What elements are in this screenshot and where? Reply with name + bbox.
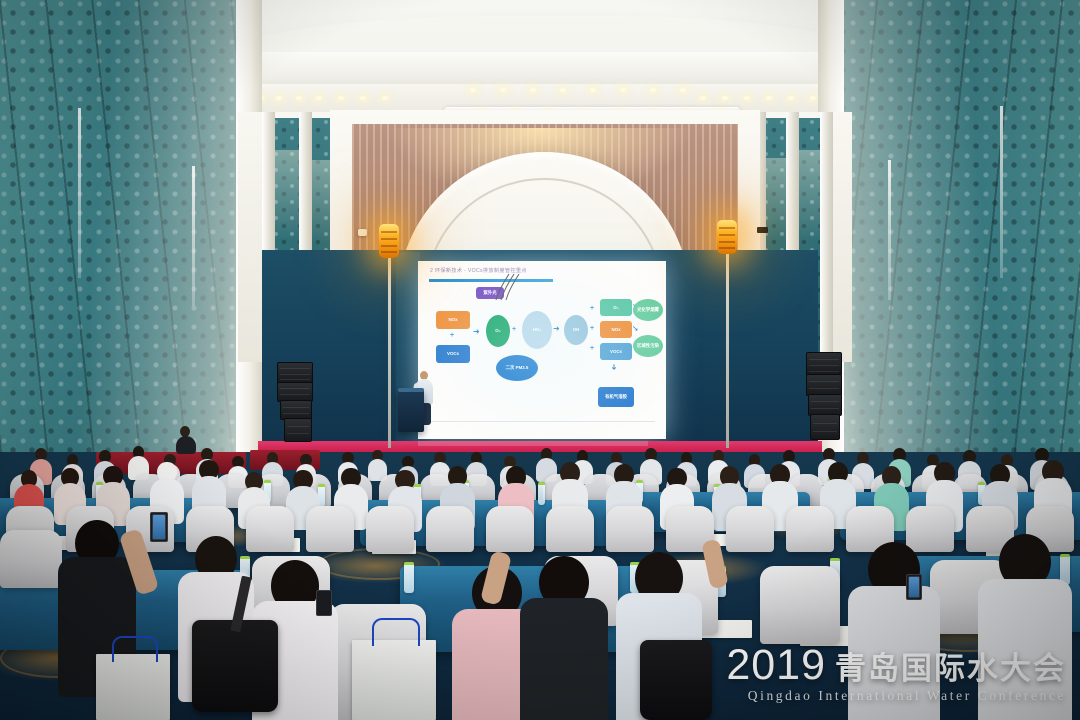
banquet-chair <box>246 506 294 552</box>
downlight <box>620 88 626 92</box>
downlight <box>650 88 656 92</box>
banquet-chair <box>366 506 414 552</box>
speaker-icon-l1 <box>277 362 313 384</box>
speaker-icon-l3 <box>280 400 312 420</box>
slide-node-aerosol: 有机气溶胶 <box>598 387 634 407</box>
slide-node-vocs-in: VOCs <box>436 345 470 363</box>
stage-apron-highlight <box>418 441 648 446</box>
slide-node-pm25: 二次 PM2.5 <box>496 355 538 381</box>
slide-node-o3-out: O₃ <box>600 299 632 316</box>
slide-footer-rule <box>429 421 655 422</box>
slide-node-oh: OH <box>564 315 588 345</box>
banquet-chair <box>606 506 654 552</box>
downlight <box>810 96 816 100</box>
banquet-chair <box>546 506 594 552</box>
slide-node-haze-1: 光化学烟雾 <box>633 299 663 321</box>
slide-arrow-5: ➜ <box>609 364 617 371</box>
slide-plus-3: + <box>590 305 594 312</box>
slide-node-haze-2: 区域性污染 <box>633 335 663 357</box>
banquet-chair <box>726 506 774 552</box>
banquet-chair <box>426 506 474 552</box>
downlight <box>296 96 302 100</box>
watermark-year: 2019 <box>726 645 826 686</box>
slide-node-o3: O₃ <box>486 315 510 347</box>
stage-light-icon-left <box>379 224 399 258</box>
light-pole-left <box>388 236 391 448</box>
tote-handle <box>372 618 420 646</box>
speaker-icon-r1 <box>806 352 842 376</box>
downlight <box>766 96 772 100</box>
banquet-chair <box>786 506 834 552</box>
speaker-icon-r3 <box>808 394 842 416</box>
banquet-chair <box>486 506 534 552</box>
uv-ray-squiggle <box>492 273 526 301</box>
camera-icon-right <box>757 227 768 233</box>
water-bottle <box>538 482 545 505</box>
backpack <box>640 640 712 720</box>
downlight <box>316 96 322 100</box>
slide-plus-4: + <box>590 325 594 332</box>
tote-bag <box>96 654 170 720</box>
slide-arrow-1: ➜ <box>473 328 480 336</box>
downlight <box>680 88 686 92</box>
projection-screen: 2 环保新技术 - VOCs排放制度管控重点 紫外光 NOx + VOCs ➜ … <box>418 261 666 439</box>
watermark-title-en: Qingdao International Water Conference <box>726 688 1066 704</box>
left-wall-panels <box>0 0 250 452</box>
downlight <box>470 88 476 92</box>
speaker-icon-l2 <box>277 382 313 402</box>
downlight <box>530 88 536 92</box>
tote-handle <box>112 636 158 662</box>
slide-plus-5: + <box>590 345 594 352</box>
slide-node-vocs-out: VOCs <box>600 343 632 360</box>
water-bottle <box>404 562 414 593</box>
downlight <box>500 88 506 92</box>
slide-arrow-2: ➜ <box>553 325 560 333</box>
banquet-chair <box>760 566 840 644</box>
watermark-title-cn: 青岛国际水大会 <box>835 654 1066 685</box>
slide-node-nox-in: NOx <box>436 311 470 329</box>
slide-title-rule <box>429 279 553 282</box>
backpack <box>192 620 278 712</box>
slide-node-ho2: HO₂ <box>522 311 552 349</box>
speaker-icon-l4 <box>284 418 312 442</box>
downlight <box>360 96 366 100</box>
slide-plus-1: + <box>450 332 454 339</box>
banquet-chair <box>0 530 62 588</box>
podium <box>398 390 424 432</box>
stage-light-icon-right <box>717 220 737 254</box>
phone-screen <box>152 514 166 540</box>
right-wall-panels <box>830 0 1080 452</box>
light-pole-right <box>726 232 729 448</box>
event-watermark: 2019 青岛国际水大会 Qingdao International Water… <box>726 645 1066 704</box>
conference-photo: 2 环保新技术 - VOCs排放制度管控重点 紫外光 NOx + VOCs ➜ … <box>0 0 1080 720</box>
podium-top <box>398 388 424 392</box>
banquet-chair <box>906 506 954 552</box>
speaker-icon-r2 <box>806 374 842 396</box>
downlight <box>382 96 388 100</box>
camera-icon-left <box>358 229 367 236</box>
downlight <box>744 96 750 100</box>
downlight <box>788 96 794 100</box>
downlight <box>560 88 566 92</box>
downlight <box>700 96 706 100</box>
downlight <box>590 88 596 92</box>
banquet-chair <box>306 506 354 552</box>
slide-arrow-4: ➘ <box>632 325 639 333</box>
pilaster-6 <box>820 112 833 364</box>
phone-icon <box>316 590 332 616</box>
phone-screen <box>908 576 920 598</box>
downlight <box>338 96 344 100</box>
tote-bag <box>352 640 436 720</box>
slide-plus-2: + <box>512 326 516 333</box>
speaker-icon-r4 <box>810 414 840 440</box>
slide-node-nox-out: NOx <box>600 321 632 338</box>
downlight <box>722 96 728 100</box>
downlight <box>276 96 282 100</box>
